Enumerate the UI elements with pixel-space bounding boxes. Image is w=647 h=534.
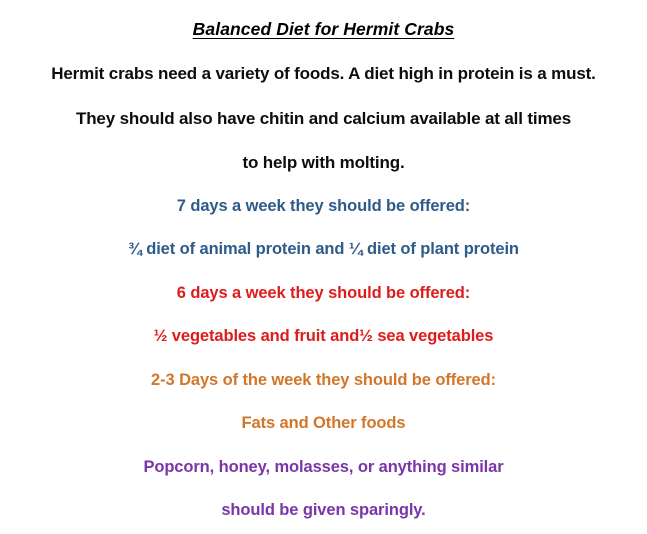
section-daily-detail: ¾ diet of animal protein and ¼ diet of p… <box>0 241 647 258</box>
intro-line-2: They should also have chitin and calcium… <box>0 110 647 127</box>
section-sparing-detail: should be given sparingly. <box>0 502 647 519</box>
intro-line-3: to help with molting. <box>0 154 647 171</box>
section-six-days-heading: 6 days a week they should be offered: <box>0 285 647 302</box>
section-sparing-heading: Popcorn, honey, molasses, or anything si… <box>0 459 647 476</box>
document-page: Balanced Diet for Hermit Crabs Hermit cr… <box>0 0 647 534</box>
section-daily-heading: 7 days a week they should be offered: <box>0 198 647 215</box>
page-title: Balanced Diet for Hermit Crabs <box>0 21 647 39</box>
section-six-days-detail: ½ vegetables and fruit and½ sea vegetabl… <box>0 328 647 345</box>
section-occasional-detail: Fats and Other foods <box>0 415 647 432</box>
section-occasional-heading: 2-3 Days of the week they should be offe… <box>0 372 647 389</box>
intro-line-1: Hermit crabs need a variety of foods. A … <box>0 65 647 82</box>
